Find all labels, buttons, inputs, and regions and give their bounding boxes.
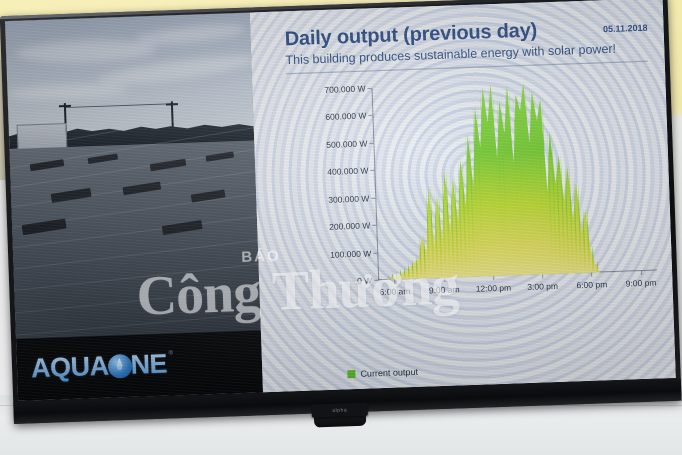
y-axis-tick-mark [372, 225, 376, 226]
current-output-series [372, 79, 658, 281]
cloud [7, 83, 127, 101]
y-axis-tick-mark [371, 197, 375, 198]
y-axis-tick-label: 300.000 W [328, 193, 375, 205]
solar-panel-cell [122, 181, 161, 195]
legend-swatch-icon [347, 370, 355, 378]
logo-text-aqua: QUA [50, 351, 110, 384]
y-axis-tick-label: 100.000 W [330, 248, 377, 260]
aquaone-logo: AQUANE® [31, 348, 174, 384]
solar-panel-cell [51, 188, 92, 203]
solar-photo-panel: AQUANE® [5, 13, 263, 401]
solar-panel-cell [30, 159, 65, 171]
y-axis-tick-label: 400.000 W [327, 166, 374, 178]
y-axis-tick-label: 500.000 W [326, 138, 373, 150]
television: alpha AQUANE® [0, 0, 682, 424]
y-axis-tick-mark [370, 170, 374, 171]
solar-panel-cell [162, 220, 203, 235]
tv-screen: AQUANE® Daily output (previous day) 05.1… [5, 0, 676, 401]
y-axis-tick-label: 200.000 W [329, 220, 376, 232]
plot-area: 0 W100.000 W200.000 W300.000 W400.000 W5… [372, 79, 658, 281]
x-axis-tick-mark [395, 280, 396, 284]
solar-panel-row [5, 283, 263, 317]
y-axis-tick-mark [368, 115, 372, 116]
x-axis-tick-mark [641, 271, 642, 275]
dashboard-slide: Daily output (previous day) 05.11.2018 T… [250, 0, 676, 392]
y-axis-tick-mark [367, 88, 371, 89]
y-axis-tick-mark [369, 143, 373, 144]
logo-text-first: A [31, 353, 51, 385]
legend-label: Current output [360, 367, 418, 379]
room-scene: alpha AQUANE® [0, 0, 682, 455]
tv-brand-label: alpha [332, 407, 347, 414]
water-droplet-icon [107, 353, 132, 378]
y-axis-tick-mark [373, 252, 377, 253]
y-axis-tick-mark [374, 280, 378, 281]
logo-text-last: NE [130, 349, 168, 381]
registered-mark: ® [169, 350, 174, 356]
slide-date: 05.11.2018 [603, 23, 648, 35]
y-axis-tick-label: 600.000 W [325, 111, 372, 123]
logo-plate: AQUANE® [16, 330, 263, 401]
x-axis-tick-mark [493, 276, 494, 280]
x-axis-tick-mark [542, 274, 543, 278]
daily-output-chart: 0 W100.000 W200.000 W300.000 W400.000 W5… [286, 72, 664, 335]
chart-legend: Current output [347, 367, 418, 379]
solar-panel-cell [150, 159, 187, 172]
solar-panel-row [5, 258, 263, 295]
solar-panel-cell [205, 152, 234, 162]
cloud [16, 38, 157, 65]
tv-brand-badge: alpha [312, 403, 368, 418]
solar-panel-cell [22, 218, 67, 235]
x-axis-tick-mark [591, 273, 592, 277]
cloud [135, 21, 246, 48]
y-axis-tick-label: 700.000 W [324, 83, 371, 95]
x-axis-tick-mark [444, 278, 445, 282]
